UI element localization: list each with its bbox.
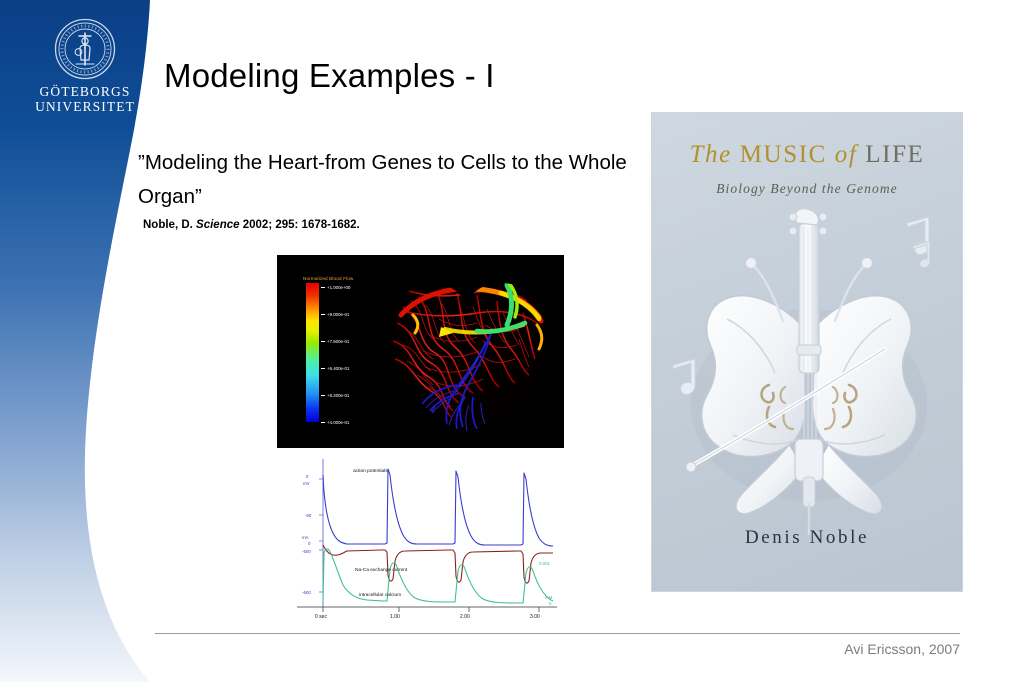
- colorbar-tick: +1.000e+00: [321, 285, 350, 290]
- book-author: Denis Noble: [652, 527, 962, 549]
- electrophysiology-plot: 0 mV -50 mA 0 -500 -600 0 sec: [277, 448, 564, 622]
- citation-journal: Science: [196, 219, 239, 231]
- svg-text:-600: -600: [302, 590, 311, 595]
- footer-divider: [155, 633, 960, 634]
- citation-details: 2002; 295: 1678-1682.: [243, 219, 360, 231]
- quote-text: ”Modeling the Heart-from Genes to Cells …: [138, 146, 638, 214]
- university-logo-text: GÖTEBORGS UNIVERSITET: [35, 85, 135, 114]
- book-title: The MUSIC of LIFE: [652, 141, 962, 169]
- vasculature-panel: Normalized Blood Flow +1.000e+00 +9.000e…: [277, 255, 564, 448]
- svg-text:0.001: 0.001: [539, 561, 551, 566]
- butterfly-violin-icon: [657, 209, 957, 539]
- university-logo: GÖTEBORGS UNIVERSITET: [24, 18, 146, 114]
- colorbar-gradient: [306, 283, 319, 422]
- svg-text:2.00: 2.00: [460, 614, 470, 620]
- science-figure: Normalized Blood Flow +1.000e+00 +9.000e…: [277, 255, 564, 621]
- colorbar-tick: +7.600e-01: [321, 339, 349, 344]
- coronary-vasculature-icon: [373, 267, 559, 439]
- svg-text:1.00: 1.00: [390, 614, 400, 620]
- colorbar-tick: +4.000e-01: [321, 420, 349, 425]
- svg-text:mV: mV: [303, 481, 310, 486]
- svg-text:action potentials: action potentials: [353, 468, 388, 474]
- book-title-of: of: [835, 141, 858, 168]
- book-title-the: The: [690, 141, 732, 168]
- book-subtitle: Biology Beyond the Genome: [652, 181, 962, 197]
- svg-text:intracellular calcium: intracellular calcium: [359, 592, 401, 598]
- svg-text:0 sec: 0 sec: [315, 614, 327, 620]
- page-title: Modeling Examples - I: [164, 57, 495, 95]
- colorbar-tick: +9.000e-01: [321, 312, 349, 317]
- footer-credit: Avi Ericsson, 2007: [844, 641, 960, 657]
- university-seal-icon: [54, 18, 116, 80]
- svg-text:-500: -500: [302, 549, 311, 554]
- book-title-music: MUSIC: [740, 141, 827, 168]
- logo-line-1: GÖTEBORGS: [35, 85, 135, 100]
- logo-line-2: UNIVERSITET: [35, 100, 135, 115]
- citation: Noble, D. Science 2002; 295: 1678-1682.: [143, 219, 360, 231]
- svg-text:3.00: 3.00: [530, 614, 540, 620]
- citation-author: Noble, D.: [143, 219, 193, 231]
- svg-text:-50: -50: [305, 513, 312, 518]
- slide-canvas: GÖTEBORGS UNIVERSITET Modeling Examples …: [0, 0, 1023, 682]
- svg-text:Na-Ca exchange current: Na-Ca exchange current: [355, 567, 408, 573]
- book-cover: The MUSIC of LIFE Biology Beyond the Gen…: [652, 113, 962, 591]
- book-title-life: LIFE: [865, 141, 924, 168]
- colorbar-tick: +5.200e-01: [321, 393, 349, 398]
- colorbar-tick: +6.400e-01: [321, 366, 349, 371]
- svg-text:mA: mA: [302, 535, 309, 540]
